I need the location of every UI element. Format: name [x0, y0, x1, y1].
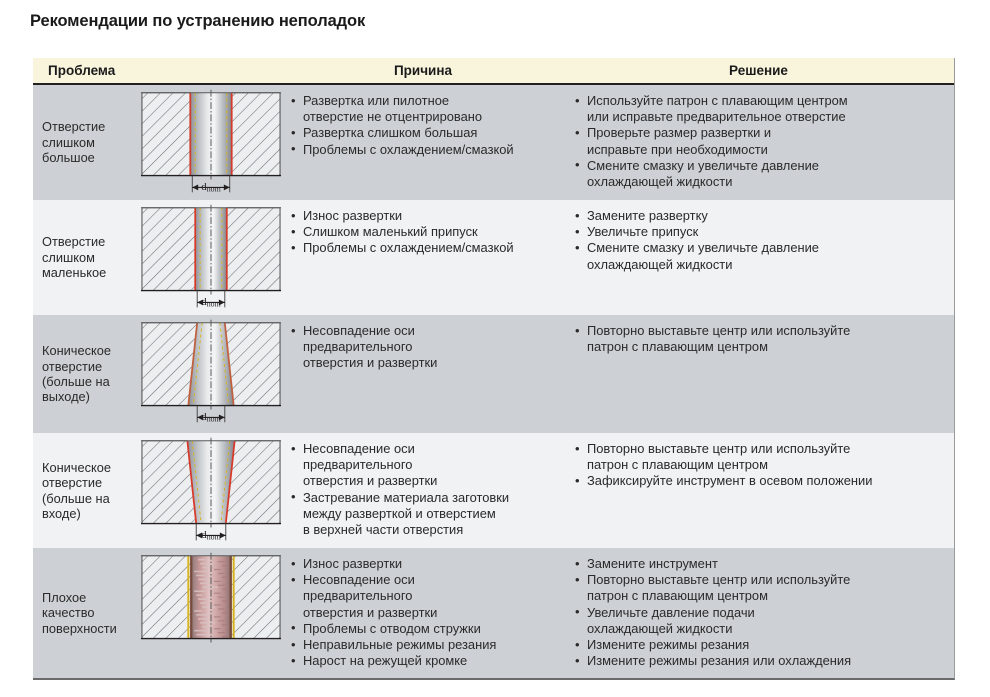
solution-item: Повторно выставьте центр или используйте…: [573, 323, 946, 355]
problem-cell: Плохое качество поверхности: [33, 548, 139, 678]
cause-list: Несовпадение оси предварительного отверс…: [289, 323, 559, 372]
dimension-label: dnom: [201, 296, 220, 308]
solution-list: Повторно выставьте центр или используйте…: [573, 441, 946, 490]
solution-item: Проверьте размер развертки и исправьте п…: [573, 125, 946, 157]
problem-label: Отверстие слишком большое: [42, 119, 105, 165]
solution-cell: Повторно выставьте центр или используйте…: [563, 433, 954, 548]
dimension-label: dnom: [201, 411, 220, 423]
cause-list: Несовпадение оси предварительного отверс…: [289, 441, 559, 538]
solution-list: Замените инструментПовторно выставьте це…: [573, 556, 946, 669]
problem-cell: Отверстие слишком большое: [33, 85, 139, 200]
cause-item: Развертка слишком большая: [289, 125, 559, 141]
solution-list: Замените разверткуУвеличьте припускСмени…: [573, 208, 946, 273]
cause-list: Развертка или пилотное отверстие не отце…: [289, 93, 559, 158]
table-row: Плохое качество поверхности: [33, 548, 954, 678]
cause-item: Нарост на режущей кромке: [289, 653, 559, 669]
troubleshooting-page: Рекомендации по устранению неполадок Про…: [0, 0, 990, 697]
cause-item: Застревание материала заготовки между ра…: [289, 490, 559, 539]
solution-item: Повторно выставьте центр или используйте…: [573, 572, 946, 604]
problem-cell: Коническое отверстие (больше на выходе): [33, 315, 139, 433]
tapered-hole-larger-at-exit-cross-section: dnom: [139, 318, 283, 430]
solution-cell: Замените разверткуУвеличьте припускСмени…: [563, 200, 954, 315]
figure-cell: [139, 548, 283, 678]
solution-item: Используйте патрон с плавающим центром и…: [573, 93, 946, 125]
figure-cell: dnom: [139, 315, 283, 433]
solution-item: Измените режимы резания или охлаждения: [573, 653, 946, 669]
page-title: Рекомендации по устранению неполадок: [30, 12, 365, 31]
cause-cell: Развертка или пилотное отверстие не отце…: [283, 85, 563, 200]
cause-item: Проблемы с охлаждением/смазкой: [289, 142, 559, 158]
cause-item: Проблемы с охлаждением/смазкой: [289, 240, 559, 256]
problem-cell: Коническое отверстие (больше на входе): [33, 433, 139, 548]
figure-cell: dnom: [139, 85, 283, 200]
problem-label: Коническое отверстие (больше на выходе): [42, 343, 111, 405]
figure-cell: dnom: [139, 200, 283, 315]
solution-item: Зафиксируйте инструмент в осевом положен…: [573, 473, 946, 489]
column-header-problem: Проблема: [33, 63, 283, 78]
troubleshooting-table: Проблема Причина Решение Отверстие слишк…: [33, 58, 955, 680]
problem-cell: Отверстие слишком маленькое: [33, 200, 139, 315]
table-row: Отверстие слишком большое: [33, 85, 954, 200]
problem-label: Отверстие слишком маленькое: [42, 234, 106, 280]
solution-cell: Используйте патрон с плавающим центром и…: [563, 85, 954, 200]
cause-cell: Износ разверткиСлишком маленький припуск…: [283, 200, 563, 315]
cause-list: Износ разверткиНесовпадение оси предвари…: [289, 556, 559, 669]
cause-item: Проблемы с отводом стружки: [289, 621, 559, 637]
table-body: Отверстие слишком большое: [33, 85, 954, 678]
solution-item: Замените развертку: [573, 208, 946, 224]
solution-item: Повторно выставьте центр или используйте…: [573, 441, 946, 473]
cause-item: Несовпадение оси предварительного отверс…: [289, 323, 559, 372]
solution-cell: Замените инструментПовторно выставьте це…: [563, 548, 954, 678]
problem-label: Плохое качество поверхности: [42, 590, 117, 636]
column-header-solution: Решение: [563, 63, 954, 78]
solution-list: Повторно выставьте центр или используйте…: [573, 323, 946, 355]
cause-cell: Несовпадение оси предварительного отверс…: [283, 315, 563, 433]
hole-too-large-cross-section: dnom: [139, 88, 283, 200]
table-row: Коническое отверстие (больше на выходе): [33, 315, 954, 433]
cause-item: Слишком маленький припуск: [289, 224, 559, 240]
cause-item: Несовпадение оси предварительного отверс…: [289, 572, 559, 621]
solution-list: Используйте патрон с плавающим центром и…: [573, 93, 946, 190]
solution-item: Увеличьте давление подачи охлаждающей жи…: [573, 605, 946, 637]
table-row: Коническое отверстие (больше на входе): [33, 433, 954, 548]
solution-item: Замените инструмент: [573, 556, 946, 572]
cause-item: Несовпадение оси предварительного отверс…: [289, 441, 559, 490]
figure-cell: dnom: [139, 433, 283, 548]
cause-item: Износ развертки: [289, 208, 559, 224]
table-row: Отверстие слишком маленькое: [33, 200, 954, 315]
solution-cell: Повторно выставьте центр или используйте…: [563, 315, 954, 433]
table-header-row: Проблема Причина Решение: [33, 58, 954, 85]
cause-item: Неправильные режимы резания: [289, 637, 559, 653]
cause-item: Износ развертки: [289, 556, 559, 572]
tapered-hole-larger-at-entry-cross-section: dnom: [139, 436, 283, 548]
poor-surface-finish-cross-section: [139, 551, 283, 663]
solution-item: Смените смазку и увеличьте давление охла…: [573, 158, 946, 190]
column-header-cause: Причина: [283, 63, 563, 78]
cause-list: Износ разверткиСлишком маленький припуск…: [289, 208, 559, 257]
dimension-label: dnom: [201, 181, 220, 193]
problem-label: Коническое отверстие (больше на входе): [42, 460, 111, 522]
solution-item: Измените режимы резания: [573, 637, 946, 653]
cause-item: Развертка или пилотное отверстие не отце…: [289, 93, 559, 125]
dimension-label: dnom: [201, 529, 220, 541]
cause-cell: Износ разверткиНесовпадение оси предвари…: [283, 548, 563, 678]
cause-cell: Несовпадение оси предварительного отверс…: [283, 433, 563, 548]
hole-too-small-cross-section: dnom: [139, 203, 283, 315]
solution-item: Увеличьте припуск: [573, 224, 946, 240]
solution-item: Смените смазку и увеличьте давление охла…: [573, 240, 946, 272]
